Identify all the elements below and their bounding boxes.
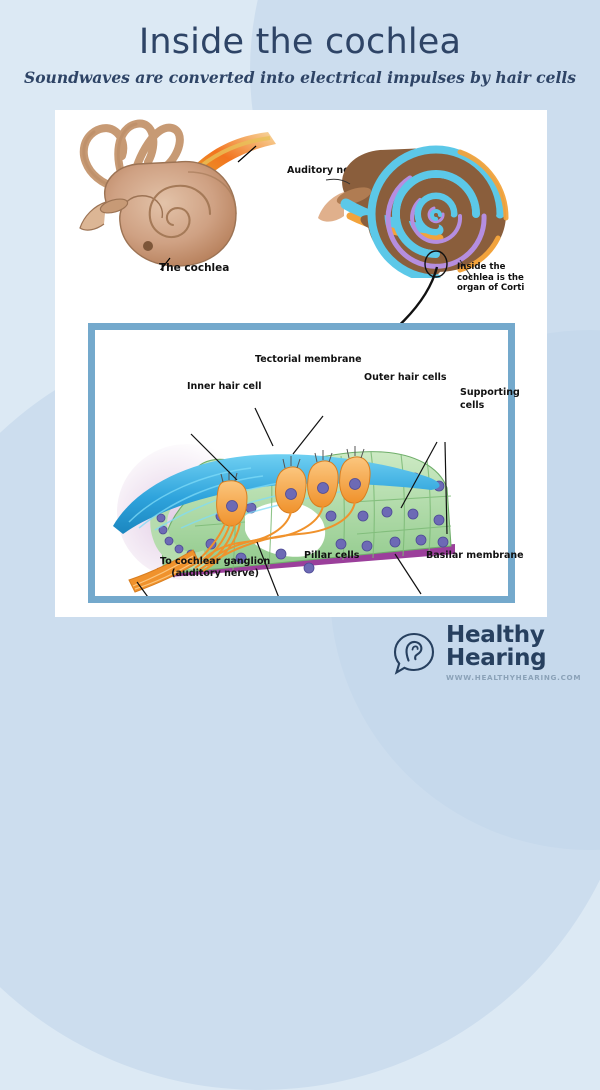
footer-logo[interactable]: Healthy Hearing WWW.HEALTHYHEARING.COM <box>392 624 600 682</box>
label-basilar-membrane: Basilar membrane <box>426 551 524 562</box>
leader-line-basilar-membrane <box>395 554 421 594</box>
label-outer-hair-cells: Outer hair cells <box>364 373 446 384</box>
page-title: Inside the cochlea <box>0 22 600 62</box>
cochlea-exterior-illustration <box>60 110 300 270</box>
infographic-card: Auditory nerve The cochlea <box>55 110 547 617</box>
ear-in-speech-bubble-icon <box>392 631 437 676</box>
brand-url: WWW.HEALTHYHEARING.COM <box>446 673 600 682</box>
label-cochlear-ganglion: To cochlear ganglion (auditory nerve) <box>160 556 270 581</box>
leader-line-tectorial-membrane <box>255 408 273 446</box>
header: Inside the cochlea Soundwaves are conver… <box>0 0 600 87</box>
brand-name: Healthy Hearing <box>446 624 600 670</box>
label-inner-hair-cell: Inner hair cell <box>187 382 262 393</box>
label-tectorial-membrane: Tectorial membrane <box>255 355 362 366</box>
page-subtitle: Soundwaves are converted into electrical… <box>0 68 600 87</box>
label-the-cochlea: The cochlea <box>159 263 229 275</box>
label-organ-of-corti: Inside the cochlea is the organ of Corti <box>457 262 524 294</box>
leader-line-outer-hair-cells <box>293 416 323 454</box>
label-supporting-cells: Supporting cells <box>460 387 520 413</box>
cochlea-cross-section-illustration <box>310 118 545 278</box>
label-pillar-cells: Pillar cells <box>304 551 359 562</box>
